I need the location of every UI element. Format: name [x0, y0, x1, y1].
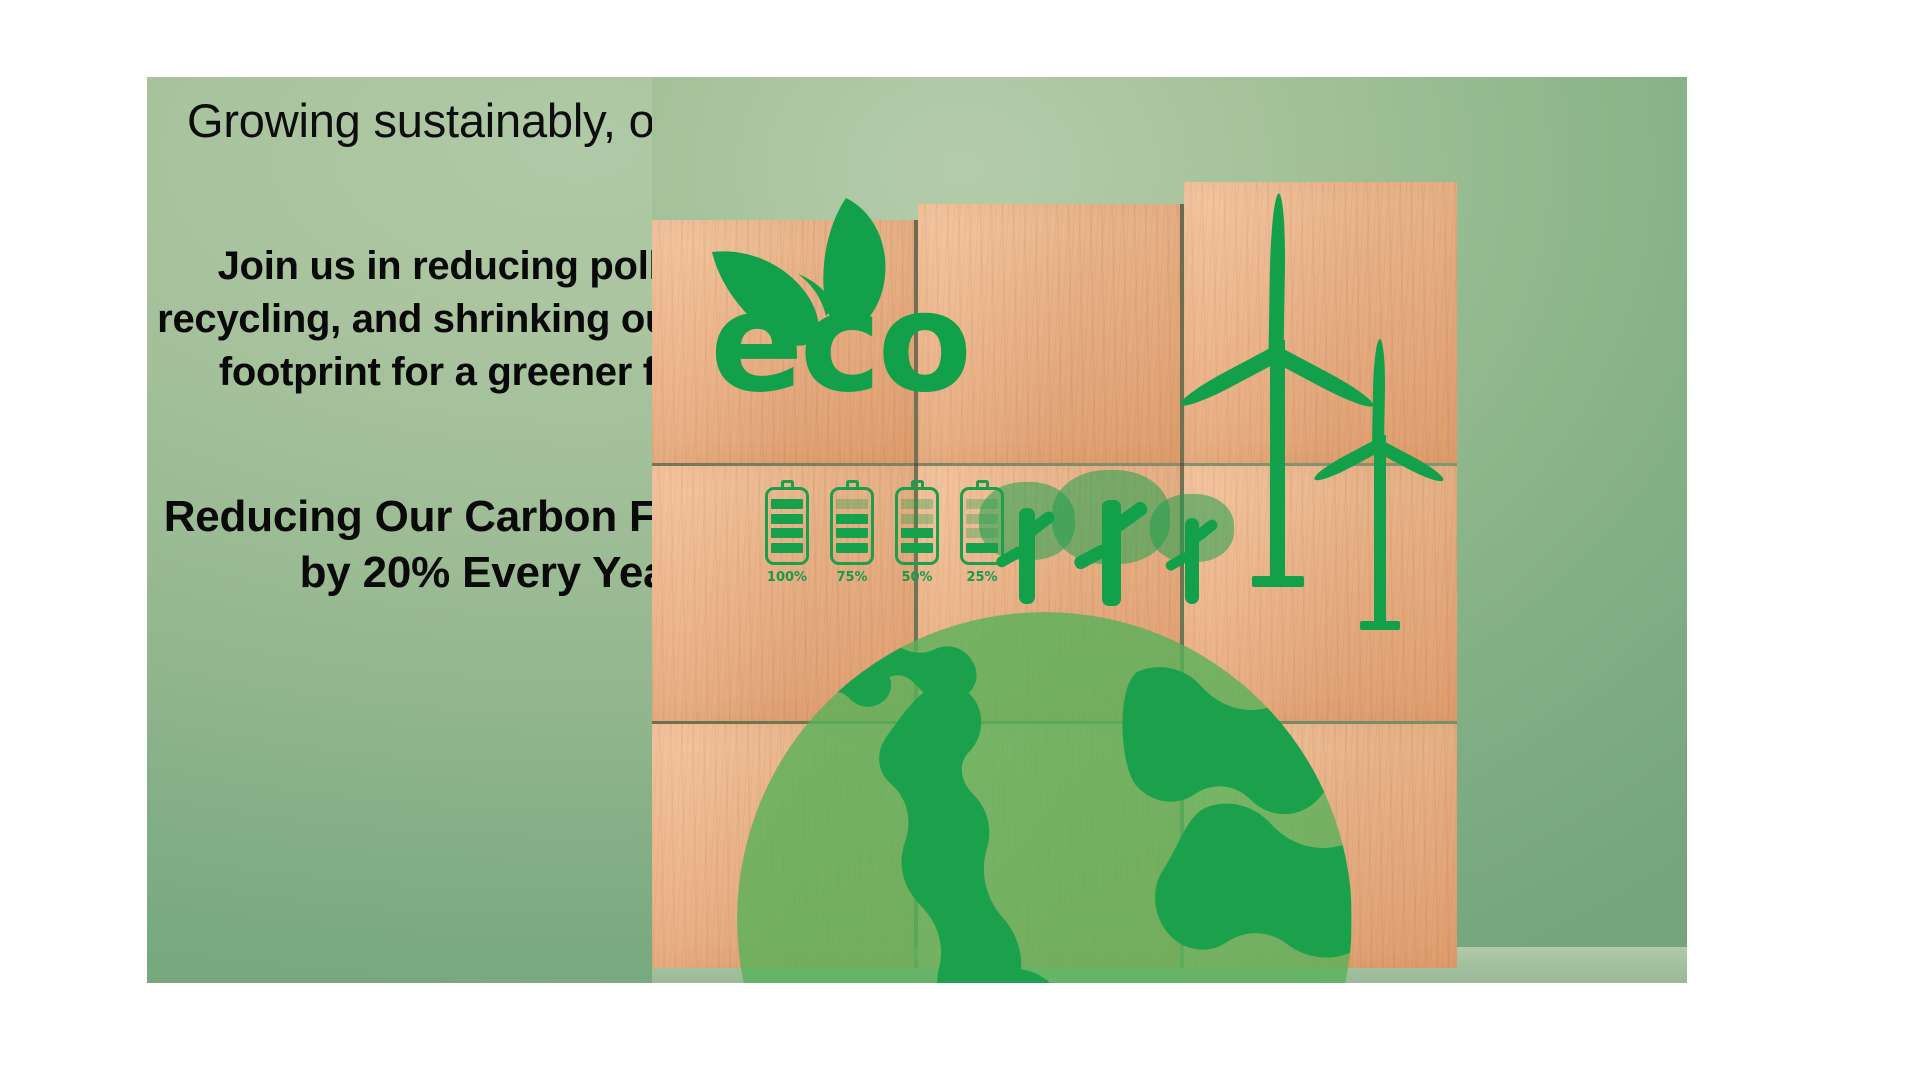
block-seam [914, 220, 918, 968]
wooden-block [1184, 724, 1457, 968]
block-seam [1180, 204, 1184, 968]
wooden-block [652, 220, 914, 463]
wooden-block [918, 724, 1180, 968]
wooden-block [918, 466, 1180, 721]
wooden-block [1184, 466, 1457, 721]
wooden-block [918, 204, 1180, 463]
wooden-block [1184, 182, 1457, 463]
slide-canvas: Growing sustainably, one step at a time.… [0, 0, 1920, 1080]
block-seam [652, 463, 1457, 466]
block-seam [652, 721, 1457, 724]
eco-blocks-photo: eco 100% [652, 77, 1687, 983]
wooden-block [652, 466, 914, 721]
slide-panel: Growing sustainably, one step at a time.… [147, 77, 1687, 983]
wooden-block [652, 724, 914, 968]
wooden-block-grid: eco 100% [652, 182, 1457, 968]
